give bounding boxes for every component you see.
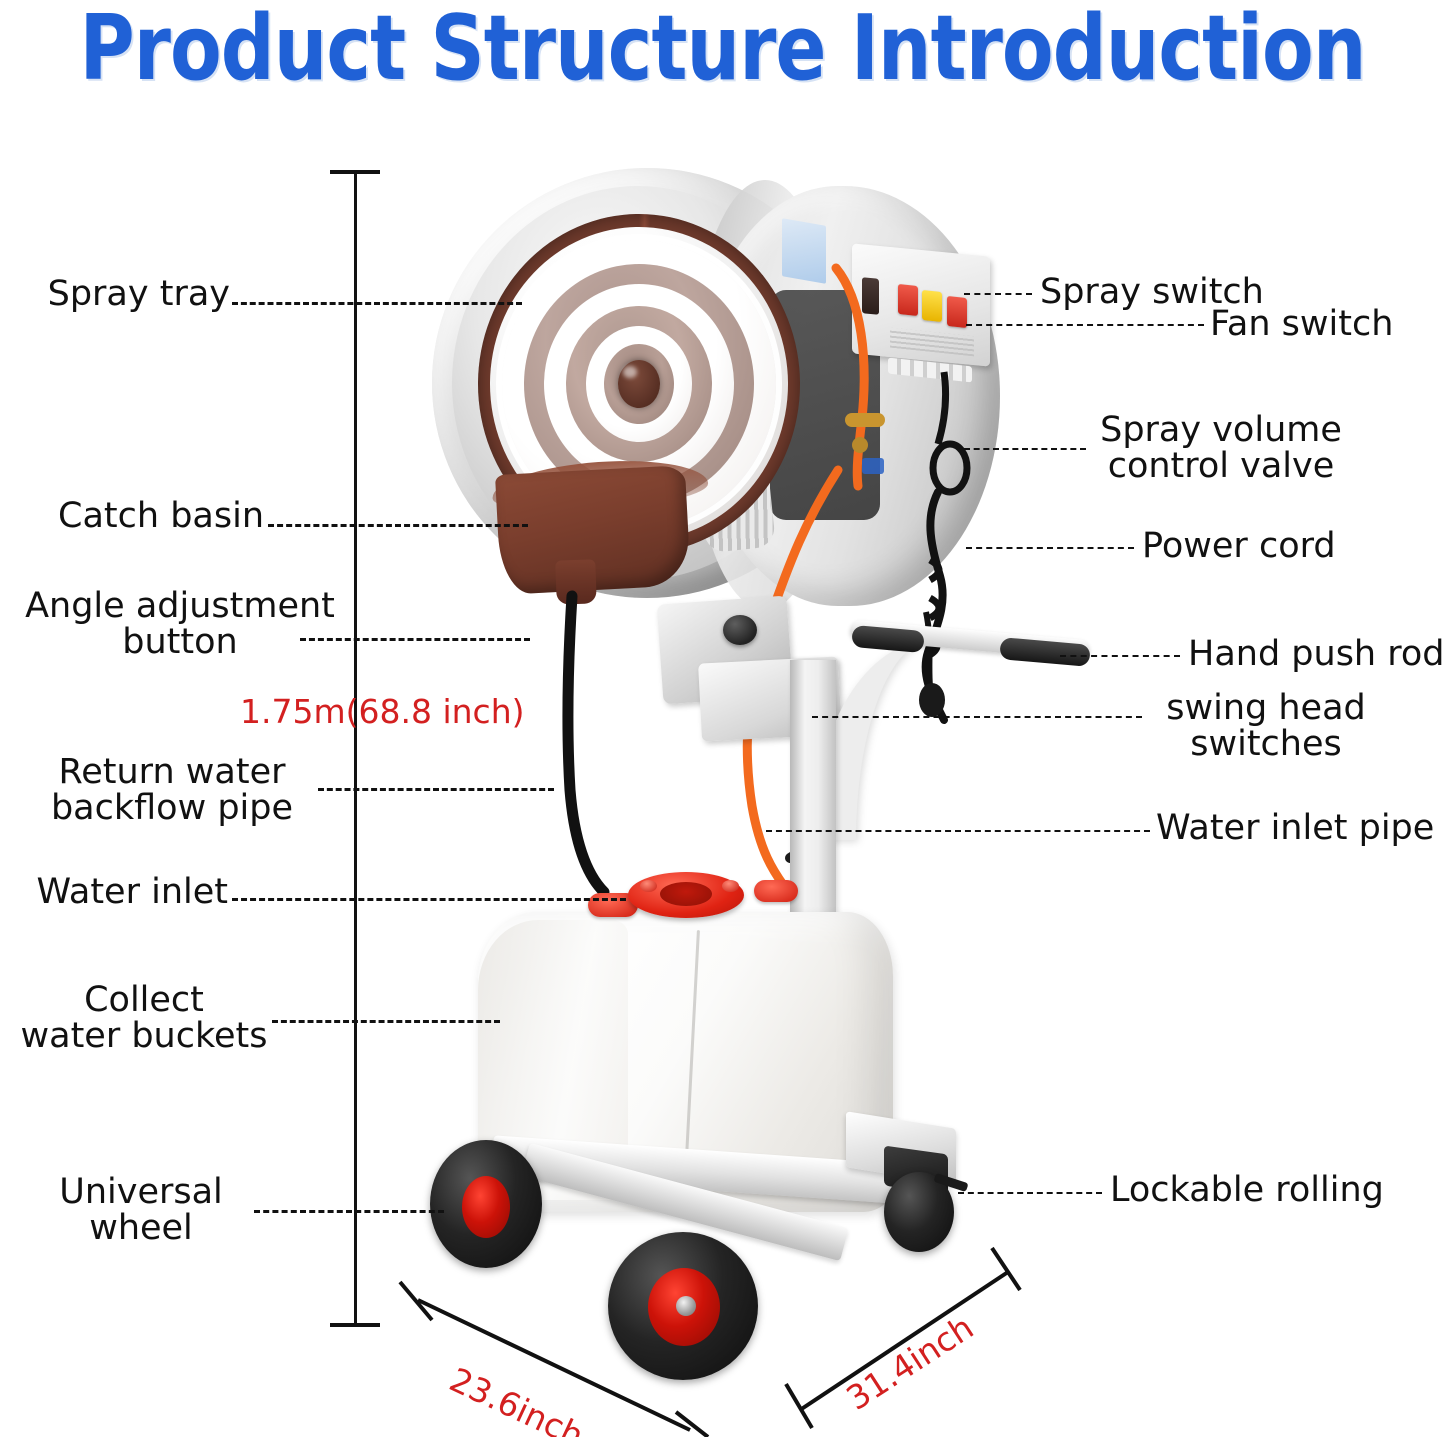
bottom-dimension-overlay: [0, 0, 1445, 1437]
depth-dimension-tick-left: [400, 1282, 432, 1320]
width-dimension-tick-right: [992, 1248, 1020, 1290]
product-structure-diagram: Product Structure Introduction: [0, 0, 1445, 1437]
